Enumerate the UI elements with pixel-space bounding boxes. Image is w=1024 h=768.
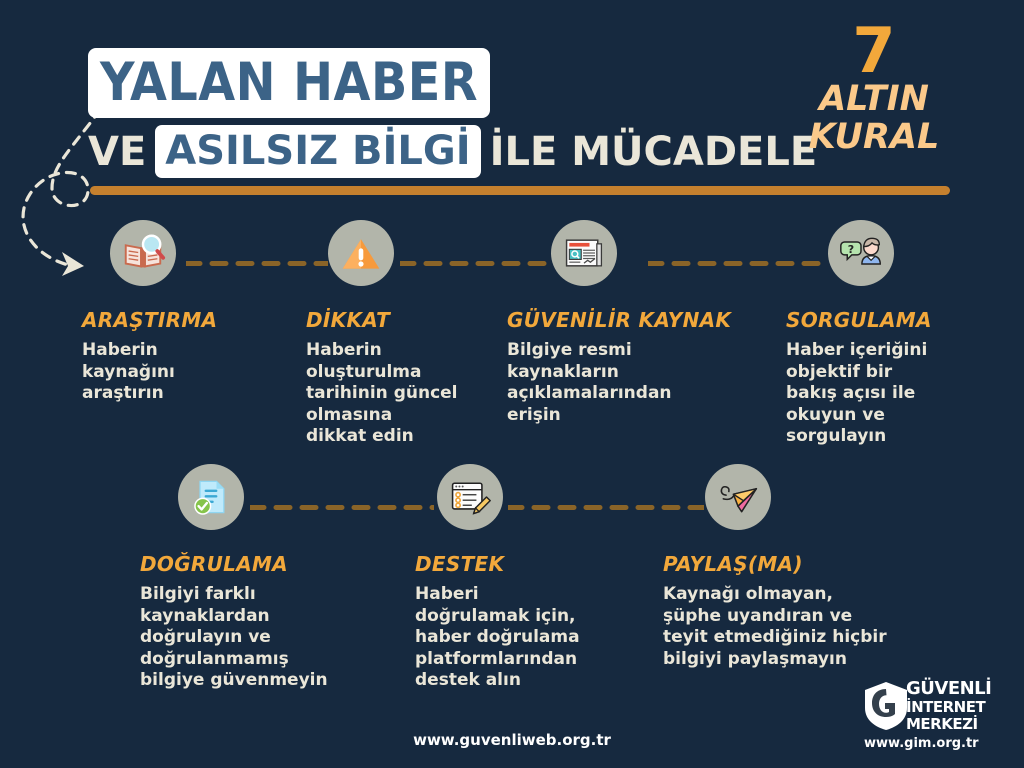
step-arastirma[interactable]: ARAŞTIRMA Haberin kaynağını araştırın (82, 220, 297, 405)
step-dogrulama[interactable]: DOĞRULAMA Bilgiyi farklı kaynaklardan do… (140, 464, 365, 692)
step-sorgulama[interactable]: ? SORGULAMA Haber içeriğini objektif bir… (786, 220, 1001, 448)
step-title: PAYLAŞ(MA) (663, 552, 948, 576)
step-destek[interactable]: DESTEK Haberi doğrulamak için, haber doğ… (415, 464, 625, 692)
title-prefix: VE (88, 132, 146, 172)
step-title: DESTEK (415, 552, 625, 576)
step-description: Haber içeriğini objektif bir bakış açısı… (786, 340, 1001, 448)
title-line-1: YALAN HABER (88, 48, 490, 118)
newspaper-search-icon (551, 220, 617, 286)
step-title: SORGULAMA (786, 308, 1001, 332)
infographic-root: YALAN HABER VE ASILSIZ BİLGİ İLE MÜCADEL… (0, 0, 1024, 768)
badge-line-1: ALTIN (784, 81, 964, 119)
title-line-2: VE ASILSIZ BİLGİ İLE MÜCADELE (88, 125, 778, 178)
svg-text:?: ? (848, 243, 854, 256)
badge-line-2: KURAL (784, 119, 964, 157)
checklist-pencil-icon (437, 464, 503, 530)
badge-number: 7 (784, 22, 964, 81)
document-check-icon (178, 464, 244, 530)
warning-triangle-icon (328, 220, 394, 286)
person-question-icon: ? (828, 220, 894, 286)
step-paylasma[interactable]: PAYLAŞ(MA) Kaynağı olmayan, şüphe uyandı… (663, 464, 948, 670)
title-highlight: ASILSIZ BİLGİ (155, 125, 480, 178)
logo-website-url[interactable]: www.gim.org.tr (864, 736, 979, 751)
gim-logo[interactable]: GÜVENLİ İNTERNET MERKEZİ www.gim.org.tr (862, 678, 1002, 760)
title-suffix: İLE MÜCADELE (490, 132, 818, 172)
rules-count-badge: 7 ALTIN KURAL (784, 22, 964, 156)
page-title: YALAN HABER VE ASILSIZ BİLGİ İLE MÜCADEL… (88, 48, 778, 178)
step-title: ARAŞTIRMA (82, 308, 297, 332)
logo-line-3: MERKEZİ (906, 717, 991, 732)
step-title: DİKKAT (306, 308, 501, 332)
step-guvenilir-kaynak[interactable]: GÜVENİLİR KAYNAK Bilgiye resmi kaynaklar… (507, 220, 767, 426)
logo-wordmark: GÜVENLİ İNTERNET MERKEZİ (906, 680, 991, 732)
header: YALAN HABER VE ASILSIZ BİLGİ İLE MÜCADEL… (0, 0, 1024, 200)
step-description: Haberin oluşturulma tarihinin güncel olm… (306, 340, 501, 448)
logo-line-1: GÜVENLİ (906, 680, 991, 698)
step-description: Bilgiye resmi kaynakların açıklamalarınd… (507, 340, 767, 426)
step-description: Kaynağı olmayan, şüphe uyandıran ve teyi… (663, 584, 948, 670)
header-divider (90, 186, 950, 195)
step-title: GÜVENİLİR KAYNAK (507, 308, 767, 332)
step-dikkat[interactable]: DİKKAT Haberin oluşturulma tarihinin gün… (306, 220, 501, 448)
step-title: DOĞRULAMA (140, 552, 365, 576)
logo-line-2: İNTERNET (906, 700, 991, 715)
step-description: Haberin kaynağını araştırın (82, 340, 297, 405)
step-description: Bilgiyi farklı kaynaklardan doğrulayın v… (140, 584, 365, 692)
step-description: Haberi doğrulamak için, haber doğrulama … (415, 584, 625, 692)
paper-plane-icon (705, 464, 771, 530)
book-magnifier-icon (110, 220, 176, 286)
shield-g-icon (862, 680, 910, 732)
